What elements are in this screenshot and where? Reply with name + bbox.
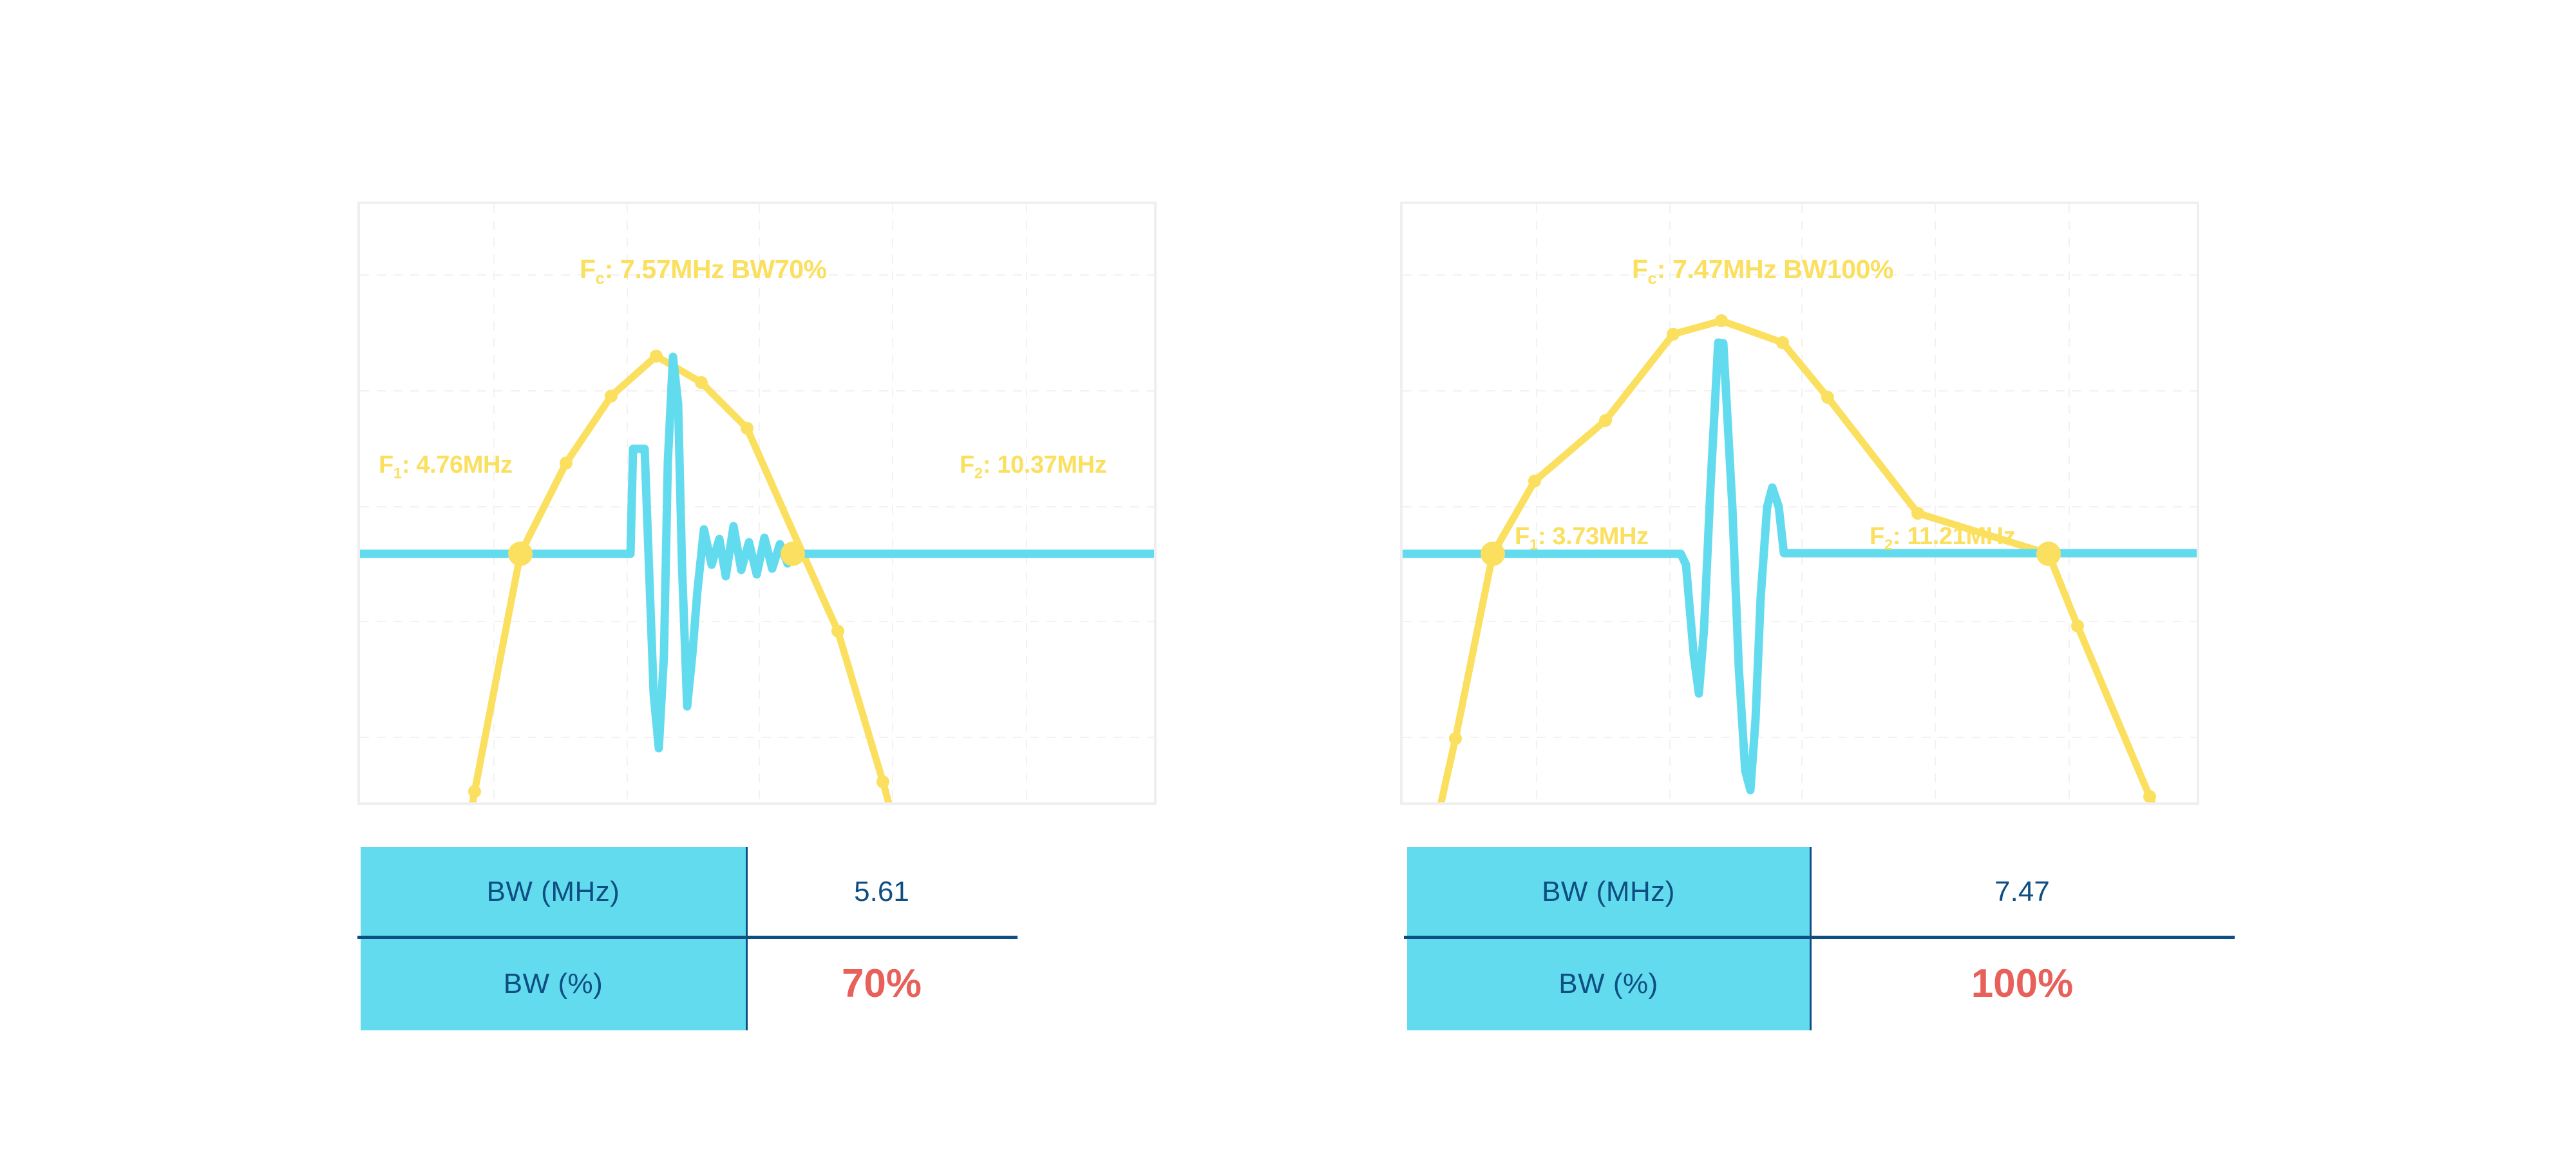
spectrum-curve-right [1417, 321, 2196, 802]
fc-symbol: F [580, 254, 596, 284]
fc-value: : 7.47MHz BW100% [1657, 254, 1893, 284]
grid-lines-left [360, 204, 1154, 802]
table-row: BW (MHz) 5.61 [361, 847, 1018, 937]
table-header-bw-percent: BW (%) [1407, 937, 1810, 1030]
annotation-center-frequency-right: Fc: 7.47MHz BW100% [1632, 254, 1893, 288]
f1-value: : 3.73MHz [1538, 523, 1649, 550]
table-value-bw-percent: 70% [746, 937, 1018, 1030]
f1-symbol: F [1515, 523, 1529, 550]
f1-subscript: 1 [393, 465, 402, 482]
table-horizontal-divider [1404, 936, 2235, 939]
table-value-bw-percent: 100% [1810, 937, 2235, 1030]
f2-symbol: F [960, 451, 974, 478]
table-horizontal-divider [357, 936, 1018, 939]
fc-subscript: c [1648, 270, 1657, 288]
bandwidth-table-right: BW (MHz) 7.47 BW (%) 100% [1407, 847, 2235, 1034]
f1-subscript: 1 [1529, 536, 1538, 553]
f1-symbol: F [379, 451, 393, 478]
f2-subscript: 2 [1884, 536, 1893, 553]
pulse-waveform-left [360, 357, 1154, 748]
table-header-bw-mhz: BW (MHz) [1407, 847, 1810, 937]
annotation-f2-left: F2: 10.37MHz [960, 451, 1106, 482]
fc-subscript: c [596, 270, 605, 288]
pulse-waveform-right [1403, 343, 2197, 790]
annotation-center-frequency-left: Fc: 7.57MHz BW70% [580, 254, 827, 288]
chart-svg-left [360, 204, 1154, 802]
plot-area-right [1403, 204, 2197, 802]
table-value-bw-mhz: 5.61 [746, 847, 1018, 937]
annotation-f1-right: F1: 3.73MHz [1515, 523, 1649, 554]
table-row: BW (%) 100% [1407, 937, 2235, 1030]
plot-area-left [360, 204, 1154, 802]
fc-symbol: F [1632, 254, 1648, 284]
table-row: BW (%) 70% [361, 937, 1018, 1030]
fc-value: : 7.57MHz BW70% [605, 254, 827, 284]
spectrum-curve-left [445, 356, 929, 802]
f2-value: : 11.21MHz [1893, 523, 2015, 550]
f2-symbol: F [1870, 523, 1884, 550]
chart-card-right [1400, 202, 2199, 805]
table-header-bw-mhz: BW (MHz) [361, 847, 746, 937]
chart-card-left [357, 202, 1157, 805]
chart-svg-right [1403, 204, 2197, 802]
annotation-f1-left: F1: 4.76MHz [379, 451, 513, 482]
table-row: BW (MHz) 7.47 [1407, 847, 2235, 937]
table-header-bw-percent: BW (%) [361, 937, 746, 1030]
table-value-bw-mhz: 7.47 [1810, 847, 2235, 937]
f1-value: : 4.76MHz [402, 451, 513, 478]
f2-subscript: 2 [974, 465, 983, 482]
f2-value: : 10.37MHz [983, 451, 1106, 478]
figure-root: Fc: 7.57MHz BW70% F1: 4.76MHz F2: 10.37M… [0, 0, 2576, 1154]
bandwidth-table-left: BW (MHz) 5.61 BW (%) 70% [361, 847, 1018, 1034]
annotation-f2-right: F2: 11.21MHz [1870, 523, 2015, 554]
